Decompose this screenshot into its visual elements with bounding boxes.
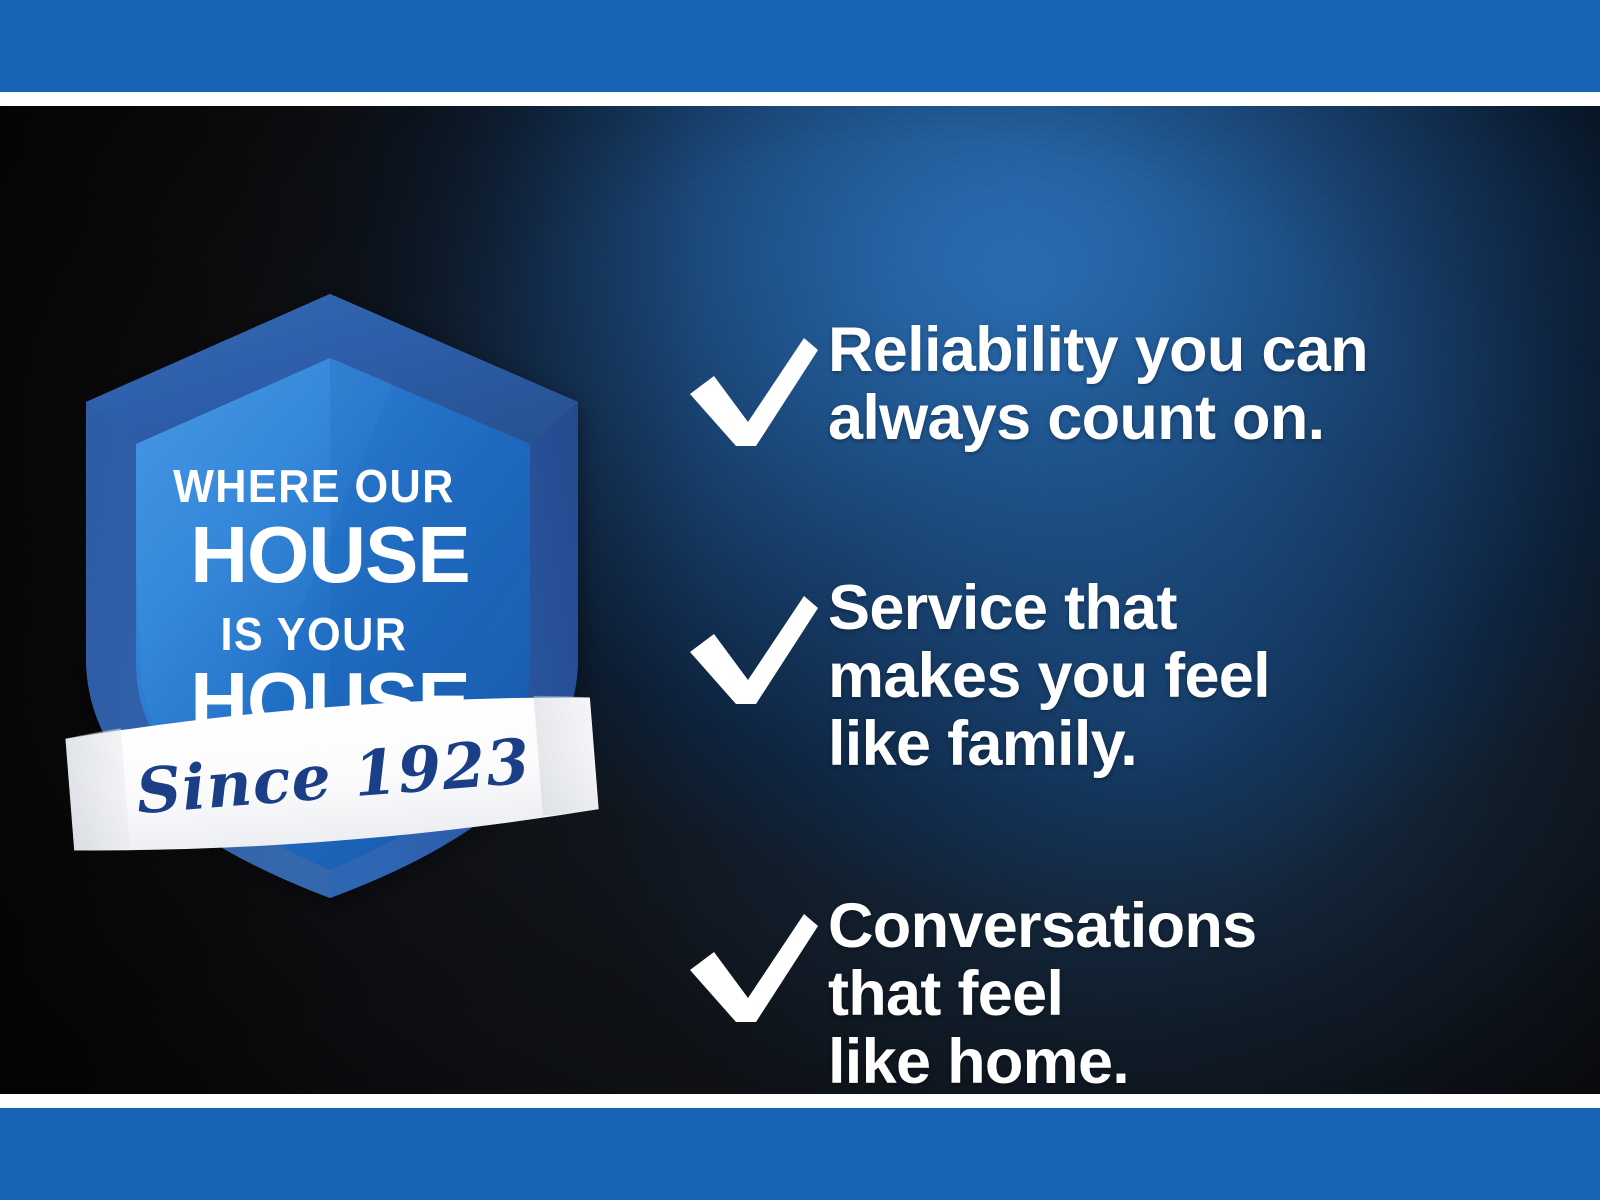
main-stage: WHERE OUR HOUSE IS YOUR HOUSE Since 1923 [0,106,1600,1094]
benefit-text: Conversations that feel like home. [828,888,1512,1094]
check-icon [676,312,828,430]
top-brand-bar [0,0,1600,92]
top-divider [0,92,1600,106]
shield-line-0: WHERE OUR [173,462,455,512]
benefits-list: Reliability you can always count on. Ser… [676,202,1512,1082]
benefit-item: Reliability you can always count on. [676,312,1512,452]
check-icon [676,888,828,1006]
benefit-item: Conversations that feel like home. [676,888,1512,1094]
bottom-divider [0,1094,1600,1108]
promo-graphic: WHERE OUR HOUSE IS YOUR HOUSE Since 1923 [0,0,1600,1200]
shield-line-2: IS YOUR [221,610,408,660]
benefit-item: Service that makes you feel like family. [676,570,1512,778]
shield-line-1: HOUSE [190,510,470,599]
company-badge: WHERE OUR HOUSE IS YOUR HOUSE Since 1923 [62,266,602,906]
check-icon [676,570,828,688]
benefit-text: Service that makes you feel like family. [828,570,1512,778]
benefit-text: Reliability you can always count on. [828,312,1512,452]
bottom-brand-bar [0,1108,1600,1200]
